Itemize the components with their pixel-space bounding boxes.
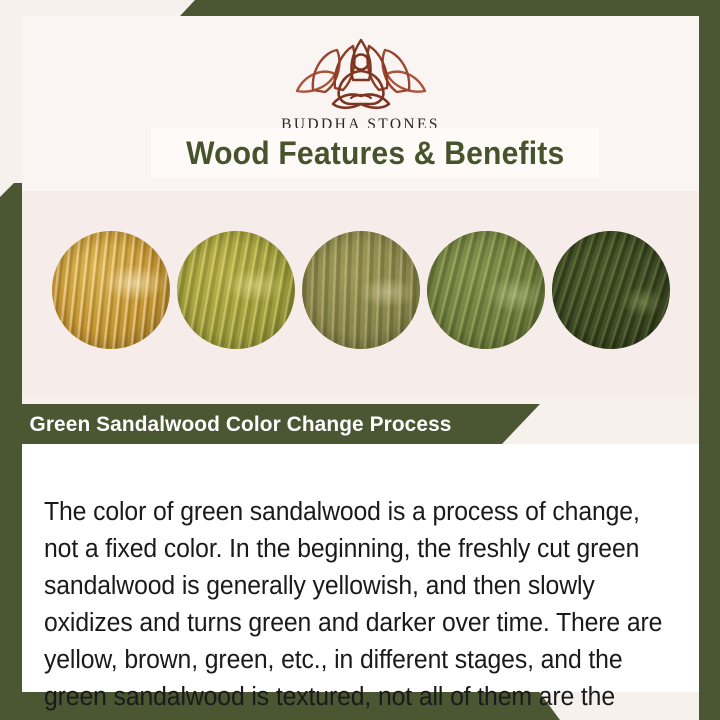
bead-row [22,231,699,349]
lotus-meditation-icon [277,34,445,112]
section-ribbon: Green Sandalwood Color Change Process [0,404,540,444]
bead-gloss-highlight [552,231,670,349]
frame-right-bar-upper [699,0,720,250]
bead-stage-3 [302,231,420,349]
bead-gloss-highlight [427,231,545,349]
product-info-poster: BUDDHA STONES Wood Features & Benefits [0,0,720,720]
description-paragraph: The color of green sandalwood is a proce… [44,494,665,720]
bead-gloss-highlight [177,231,295,349]
color-stages-panel [22,191,699,397]
section-title: Green Sandalwood Color Change Process [30,412,452,437]
description-panel: The color of green sandalwood is a proce… [22,444,699,692]
page-title: Wood Features & Benefits [186,135,564,172]
bead-stage-4 [427,231,545,349]
bead-stage-1 [52,231,170,349]
brand-logo: BUDDHA STONES [22,34,699,134]
frame-top-bar [0,0,720,16]
bead-gloss-highlight [52,231,170,349]
headline-band: Wood Features & Benefits [151,128,599,178]
bead-stage-5 [552,231,670,349]
frame-left-bar [0,183,22,720]
frame-right-bar-lower [699,249,720,720]
bead-gloss-highlight [302,231,420,349]
bead-stage-2 [177,231,295,349]
